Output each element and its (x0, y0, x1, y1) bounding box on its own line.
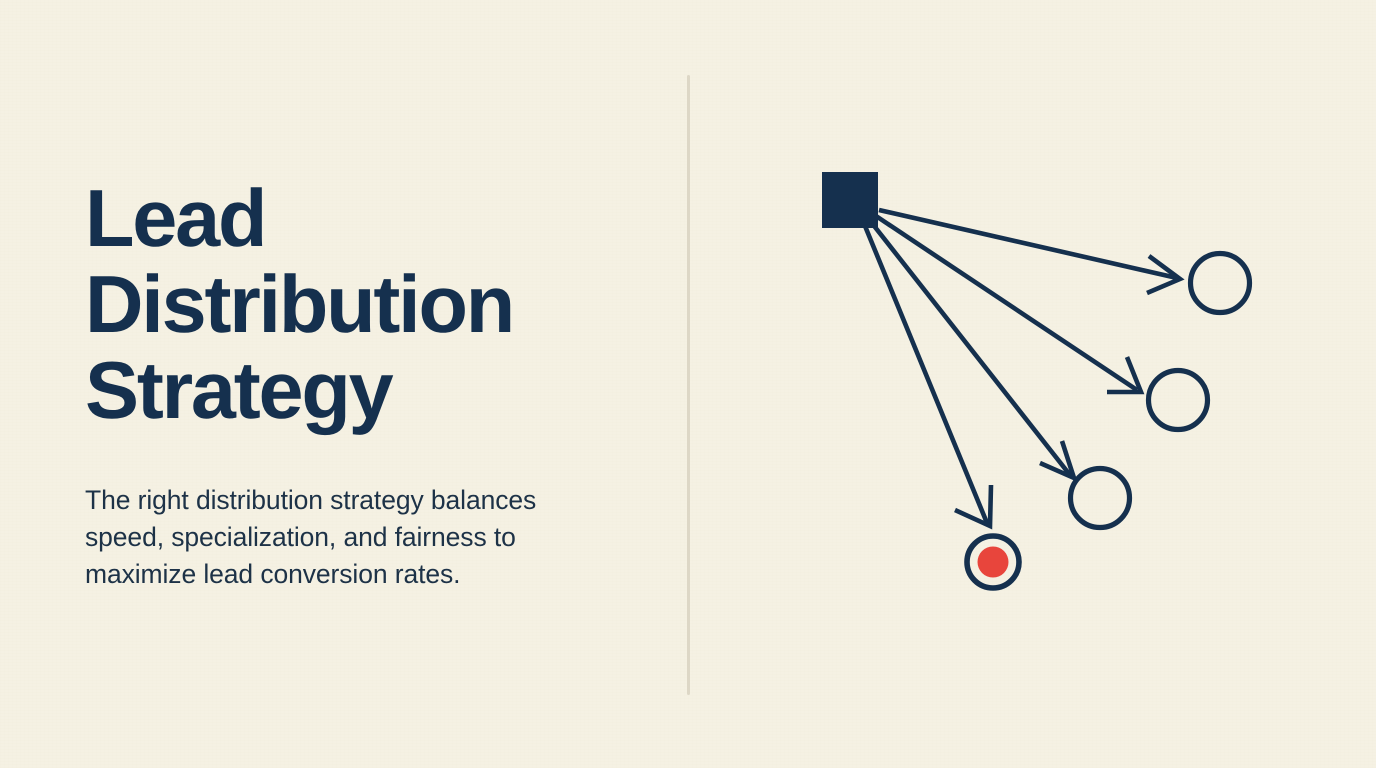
arrow-shaft-2 (876, 216, 1137, 390)
arrow-shaft-1 (879, 210, 1177, 278)
target-node-2-circle[interactable] (1149, 371, 1208, 430)
arrow-shaft-3 (871, 222, 1070, 475)
diagram-svg (740, 60, 1340, 700)
arrow-heads (955, 256, 1180, 526)
target-node-1-circle[interactable] (1191, 254, 1250, 313)
slide-canvas: Lead Distribution Strategy The right dis… (0, 0, 1376, 768)
subtitle-text: The right distribution strategy balances… (85, 482, 615, 593)
page-title: Lead Distribution Strategy (85, 176, 645, 434)
left-text-panel: Lead Distribution Strategy The right dis… (85, 0, 645, 768)
target-node-3-circle[interactable] (1071, 469, 1130, 528)
vertical-divider (687, 75, 690, 695)
target-node-4-highlighted[interactable] (967, 536, 1019, 588)
lead-source-square[interactable] (822, 172, 878, 228)
target-node-4-dot (978, 547, 1009, 578)
lead-distribution-diagram (740, 60, 1340, 700)
arrow-shaft-4 (865, 226, 987, 523)
